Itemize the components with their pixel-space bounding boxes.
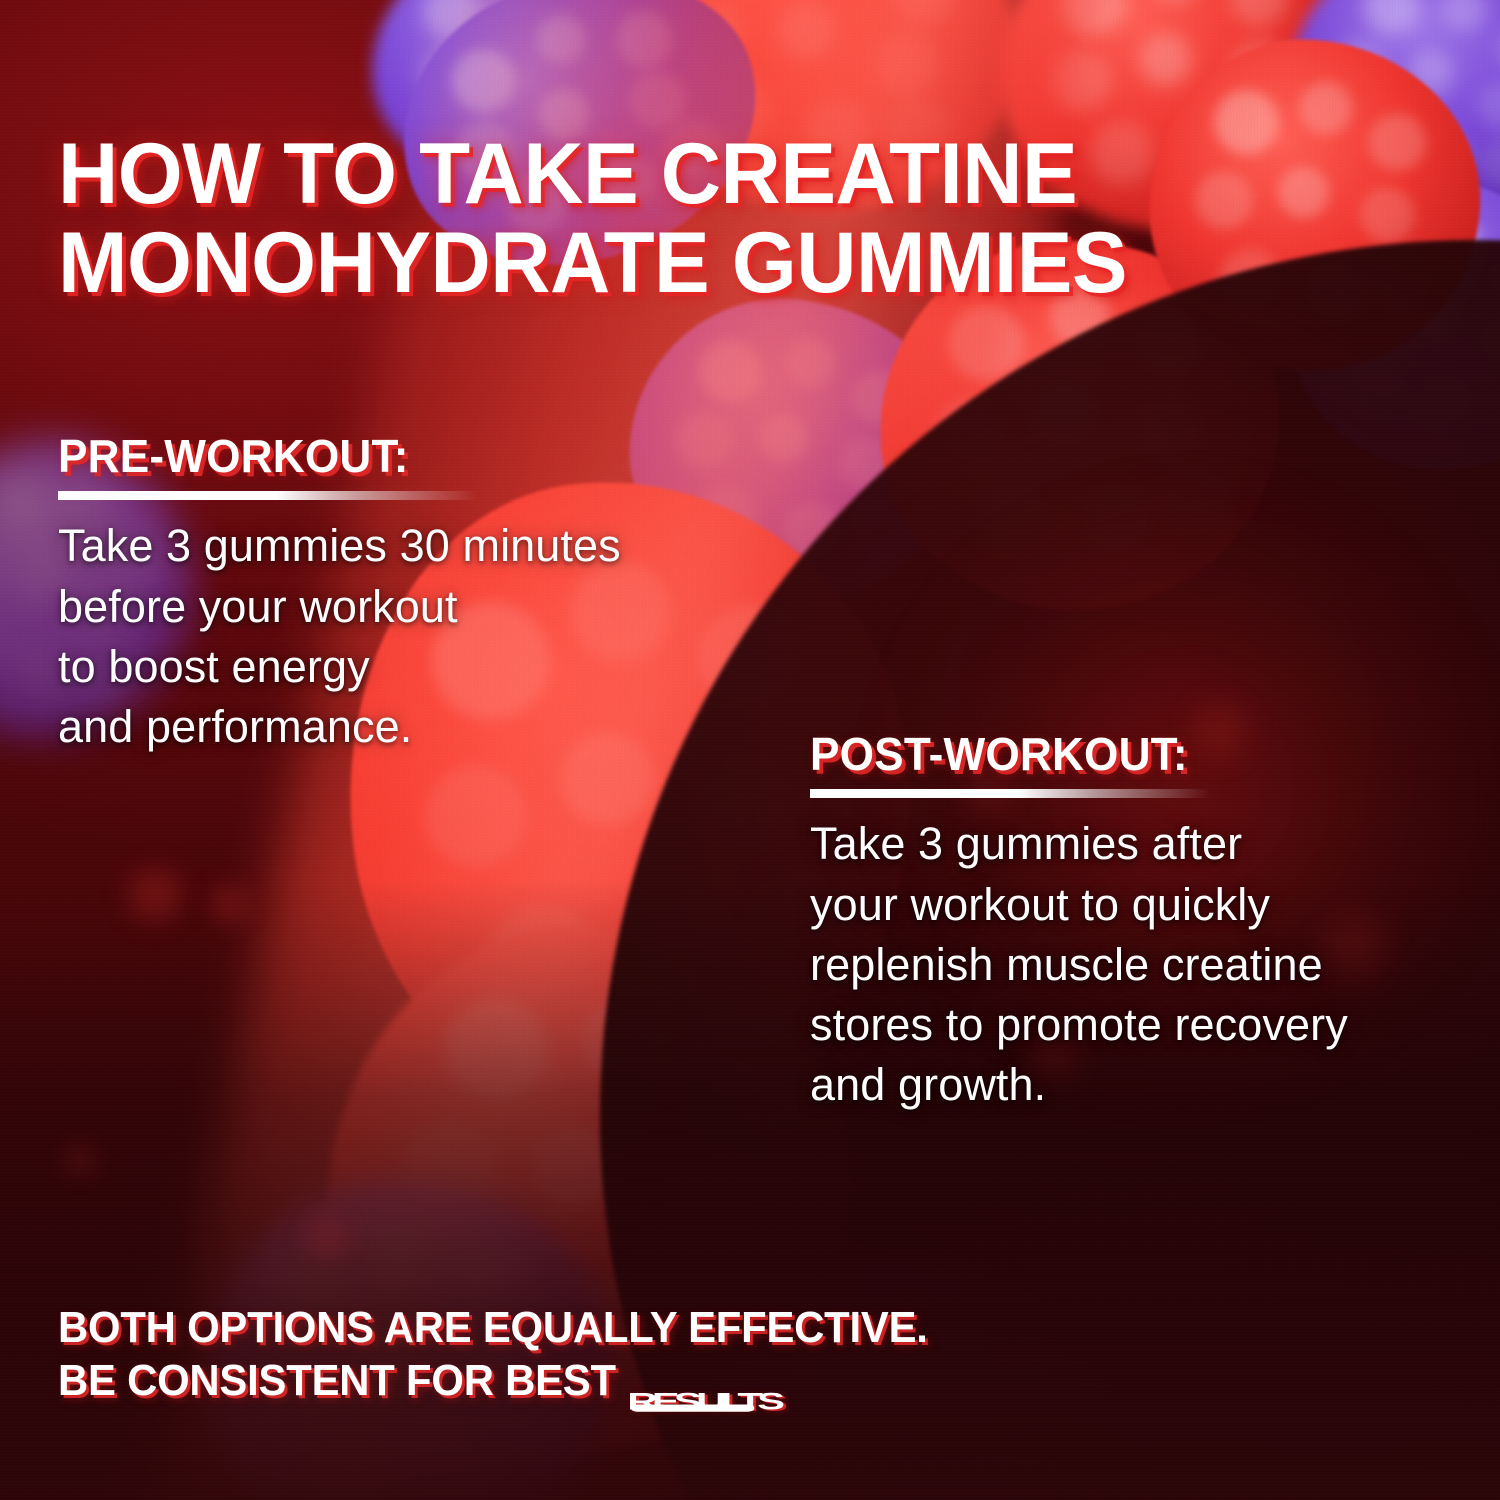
post-workout-body-line-3: replenish muscle creatine: [810, 935, 1490, 995]
page-title-line-2: MONOHYDRATE GUMMIES: [58, 219, 1435, 308]
page-title: HOW TO TAKE CREATINE MONOHYDRATE GUMMIES: [58, 130, 1435, 309]
pre-workout-body-line-3: to boost energy: [58, 637, 818, 697]
footer-line-2-prefix: BE CONSISTENT FOR BEST: [58, 1356, 627, 1405]
pre-workout-heading: PRE-WORKOUT:: [58, 432, 788, 480]
pre-workout-body-line-4: and performance.: [58, 697, 818, 757]
post-workout-section: POST-WORKOUT: Take 3 gummies after your …: [810, 730, 1490, 1116]
pre-workout-body-line-1: Take 3 gummies 30 minutes: [58, 516, 818, 576]
infographic-poster: HOW TO TAKE CREATINE MONOHYDRATE GUMMIES…: [0, 0, 1500, 1500]
post-workout-body-line-2: your workout to quickly: [810, 875, 1490, 935]
post-workout-body-line-4: stores to promote recovery: [810, 995, 1490, 1055]
content-layer: HOW TO TAKE CREATINE MONOHYDRATE GUMMIES…: [0, 0, 1500, 1500]
post-workout-heading: POST-WORKOUT:: [810, 730, 1463, 778]
footer-note: BOTH OPTIONS ARE EQUALLY EFFECTIVE. BE C…: [58, 1301, 1388, 1408]
post-workout-body: Take 3 gummies after your workout to qui…: [810, 814, 1490, 1115]
footer-glitched-word: RESULTS: [627, 1387, 779, 1417]
post-workout-body-line-1: Take 3 gummies after: [810, 814, 1490, 874]
footer-line-2: BE CONSISTENT FOR BEST RESULTS: [58, 1354, 1388, 1408]
footer-line-1: BOTH OPTIONS ARE EQUALLY EFFECTIVE.: [58, 1301, 1388, 1355]
pre-workout-section: PRE-WORKOUT: Take 3 gummies 30 minutes b…: [58, 432, 818, 757]
pre-workout-body: Take 3 gummies 30 minutes before your wo…: [58, 516, 818, 757]
pre-workout-underline: [58, 491, 478, 500]
page-title-line-1: HOW TO TAKE CREATINE: [58, 126, 1077, 222]
post-workout-body-line-5: and growth.: [810, 1055, 1490, 1115]
pre-workout-body-line-2: before your workout: [58, 577, 818, 637]
post-workout-underline: [810, 789, 1210, 798]
